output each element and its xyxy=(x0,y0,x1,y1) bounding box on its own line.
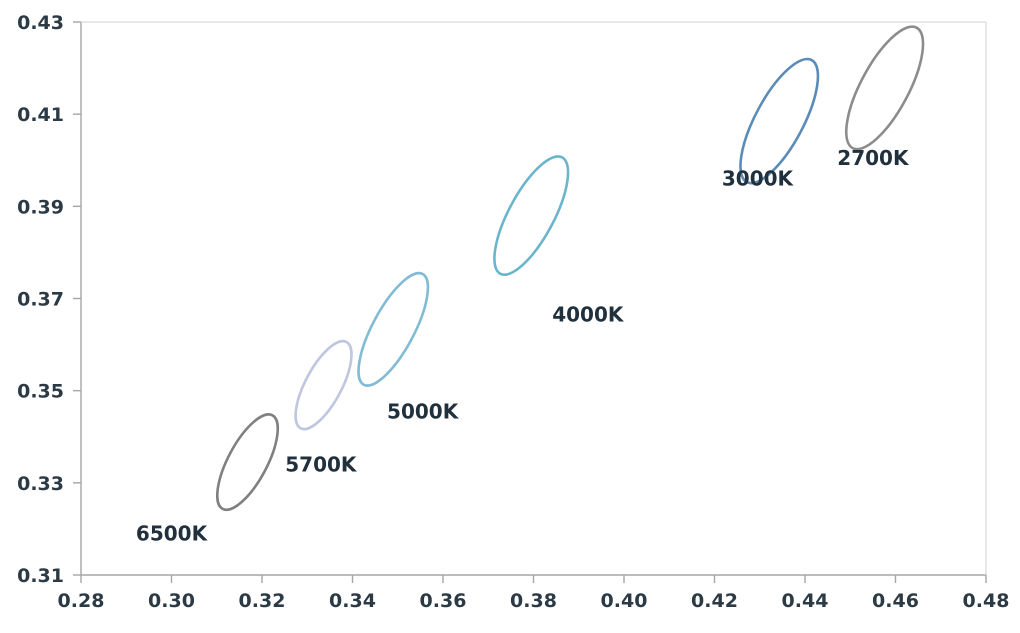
macadam-ellipse-6500k xyxy=(205,406,289,518)
macadam-ellipse-5700k xyxy=(285,334,363,437)
x-tick-label: 0.46 xyxy=(872,590,919,612)
series-label-5000k: 5000K xyxy=(387,399,460,423)
x-tick-label: 0.44 xyxy=(782,590,829,612)
x-tick-label: 0.42 xyxy=(691,590,738,612)
series-label-layer: 6500K5700K5000K4000K3000K2700K xyxy=(136,146,910,546)
series-label-5700k: 5700K xyxy=(285,452,358,476)
chart-canvas: 6500K5700K5000K4000K3000K2700K 0.280.300… xyxy=(0,0,1020,633)
macadam-ellipse-4000k xyxy=(480,147,582,285)
y-tick-label: 0.39 xyxy=(17,196,64,218)
y-tick-label: 0.37 xyxy=(17,289,64,311)
macadam-ellipse-2700k xyxy=(831,16,937,159)
series-label-4000k: 4000K xyxy=(552,303,625,327)
y-tick-label: 0.33 xyxy=(17,473,64,495)
series-label-3000k: 3000K xyxy=(722,167,795,191)
y-tick-label: 0.41 xyxy=(17,104,64,126)
x-tick-label: 0.30 xyxy=(148,590,195,612)
y-tick-label: 0.43 xyxy=(17,12,64,34)
y-tick-label: 0.35 xyxy=(17,381,64,403)
y-tick-label: 0.31 xyxy=(17,565,64,587)
axis-layer xyxy=(73,22,986,583)
x-tick-label: 0.38 xyxy=(510,590,557,612)
x-tick-label: 0.40 xyxy=(601,590,648,612)
chromaticity-chart: 6500K5700K5000K4000K3000K2700K 0.280.300… xyxy=(0,0,1020,633)
x-tick-label: 0.32 xyxy=(239,590,286,612)
ellipse-layer xyxy=(205,16,937,518)
x-tick-label: 0.48 xyxy=(963,590,1010,612)
series-label-2700k: 2700K xyxy=(837,146,910,170)
x-tick-label: 0.28 xyxy=(58,590,105,612)
series-label-6500k: 6500K xyxy=(136,521,209,545)
x-tick-label: 0.34 xyxy=(329,590,376,612)
x-tick-label: 0.36 xyxy=(420,590,467,612)
macadam-ellipse-5000k xyxy=(345,264,441,394)
